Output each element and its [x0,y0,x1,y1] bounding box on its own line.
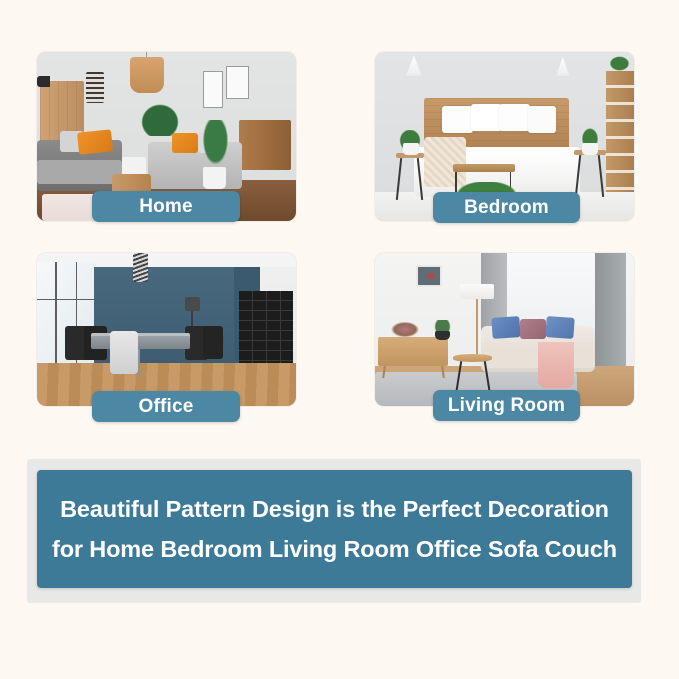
white-chair [110,331,138,374]
badge-living-room-label: Living Room [448,395,565,417]
wall-art-accent [427,273,435,279]
dark-plant-pot [435,331,451,340]
pink-throw-blanket [538,342,574,388]
plant-pot [203,167,226,189]
feature-card-office[interactable] [37,253,296,406]
badge-office-label: Office [138,396,193,418]
window-mullion [55,262,57,363]
floor-lamp-shade [460,284,494,299]
monstera-plant [138,101,182,136]
scene-image-office [37,253,296,406]
shelf-dividers [606,71,634,193]
office-chair [203,326,224,358]
feature-card-living-room[interactable] [375,253,634,406]
floor-lamp-shade [185,297,201,311]
potted-plant [200,120,231,171]
badge-office[interactable]: Office [92,391,240,422]
badge-home-label: Home [139,196,193,218]
plant-pot [403,143,419,155]
promo-banner-frame: Beautiful Pattern Design is the Perfect … [27,459,641,603]
badge-living-room[interactable]: Living Room [433,390,580,421]
promo-banner-line-2: for Home Bedroom Living Room Office Sofa… [52,529,617,569]
knit-throw-blanket [424,137,465,188]
promo-banner: Beautiful Pattern Design is the Perfect … [37,470,632,588]
white-pillow [499,104,530,131]
curtain [595,253,626,378]
scene-image-living-room [375,253,634,406]
sofa-left-seat [37,160,122,184]
wooden-sideboard [378,337,448,366]
wall-lamp-icon [37,76,50,88]
round-side-table [453,354,492,362]
flower-arrangement [388,320,422,338]
shelf-plant [608,55,631,72]
white-pillow [442,106,473,133]
badge-bedroom-label: Bedroom [464,197,549,219]
badge-bedroom[interactable]: Bedroom [433,192,580,223]
white-pillow [528,106,556,133]
table-leg [138,349,140,377]
floor-lamp-pole [476,299,478,354]
picture-frame [203,71,224,108]
orange-pillow [77,130,113,155]
white-pillow [471,104,502,131]
wooden-bench [453,164,515,172]
product-feature-page: Home [0,0,679,679]
conference-table [91,336,189,350]
pendant-light [133,253,149,282]
laptop [122,157,145,176]
macrame-wall-hanging [86,72,104,102]
plant-pot [582,143,598,155]
picture-frame [226,66,249,100]
wooden-sideboard [239,120,291,171]
badge-home[interactable]: Home [92,191,240,222]
promo-banner-line-1: Beautiful Pattern Design is the Perfect … [60,489,609,529]
bookshelf-grid [239,291,293,363]
mauve-pillow [520,319,546,339]
orange-pillow [172,133,198,153]
blue-pillow [491,316,521,339]
rattan-pendant-light [130,57,164,92]
window-mullion [37,299,94,301]
blue-pillow [545,316,575,339]
